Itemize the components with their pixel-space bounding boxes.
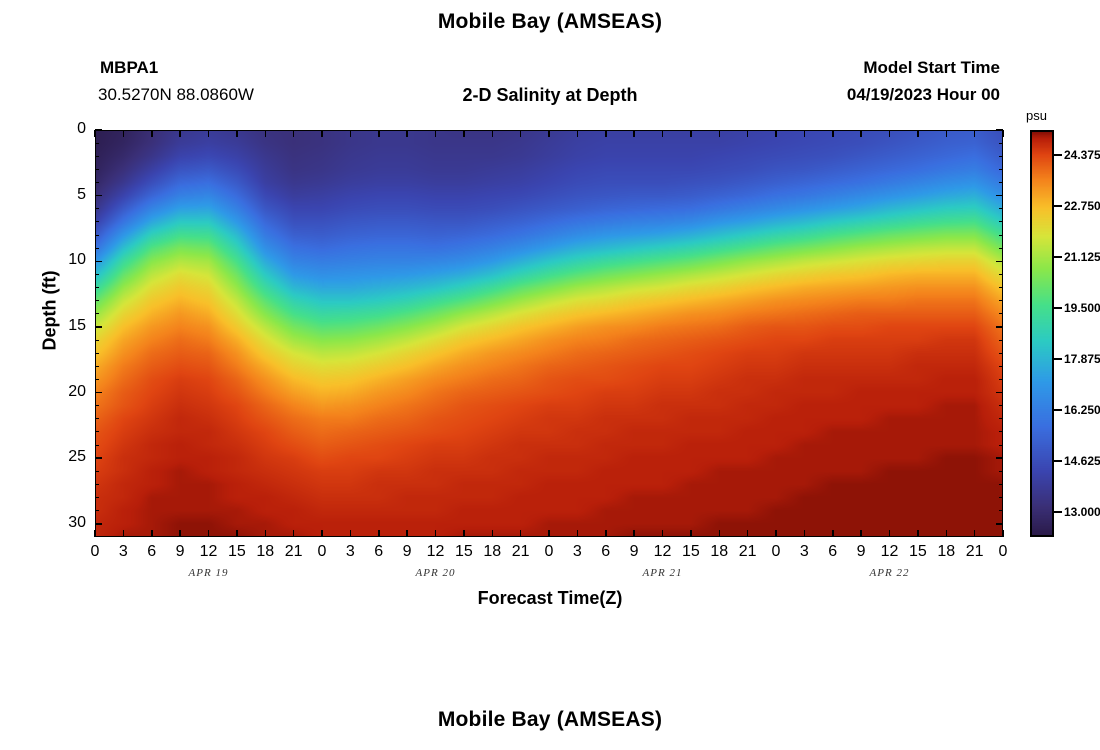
x-axis-tick-top xyxy=(917,130,919,137)
x-axis-tick-top xyxy=(747,130,749,137)
x-axis-tick-top xyxy=(804,130,806,137)
x-axis-tick xyxy=(747,530,749,537)
y-axis-minor-tick-right xyxy=(999,418,1003,419)
y-axis-tick-right xyxy=(996,195,1003,197)
x-axis-tick xyxy=(946,530,948,537)
x-axis-day-label: APR 19 xyxy=(164,567,254,579)
salinity-heatmap-canvas xyxy=(95,130,1003,537)
x-axis-tick-top xyxy=(974,130,976,137)
colorbar-canvas xyxy=(1030,130,1054,537)
colorbar-tick-label: 21.125 xyxy=(1064,250,1100,264)
colorbar-tick-label: 13.000 xyxy=(1064,505,1100,519)
x-axis-tick xyxy=(633,530,635,537)
x-axis-tick-top xyxy=(123,130,125,137)
y-axis-tick-right xyxy=(996,129,1003,131)
y-axis-minor-tick-right xyxy=(999,274,1003,275)
x-axis-tick xyxy=(662,530,664,537)
colorbar-tick xyxy=(1054,256,1062,258)
colorbar-tick xyxy=(1054,154,1062,156)
x-axis-tick-top xyxy=(94,130,96,137)
y-axis-tick xyxy=(95,392,102,394)
x-axis-day-label: APR 21 xyxy=(618,567,708,579)
y-axis-tick-label: 5 xyxy=(46,186,86,204)
y-axis-minor-tick xyxy=(95,471,99,472)
colorbar-tick-label: 24.375 xyxy=(1064,148,1100,162)
y-axis-minor-tick-right xyxy=(999,182,1003,183)
colorbar-tick-label: 14.625 xyxy=(1064,454,1100,468)
page-title-top: Mobile Bay (AMSEAS) xyxy=(0,10,1100,34)
y-axis-minor-tick xyxy=(95,340,99,341)
x-axis-tick xyxy=(435,530,437,537)
x-axis-tick-top xyxy=(775,130,777,137)
y-axis-minor-tick xyxy=(95,248,99,249)
heatmap-plot-area xyxy=(95,130,1003,537)
x-axis-tick xyxy=(208,530,210,537)
x-axis-tick xyxy=(775,530,777,537)
x-axis-tick xyxy=(605,530,607,537)
y-axis-minor-tick xyxy=(95,353,99,354)
y-axis-minor-tick xyxy=(95,431,99,432)
colorbar-tick-label: 17.875 xyxy=(1064,352,1100,366)
colorbar-tick xyxy=(1054,358,1062,360)
y-axis-minor-tick xyxy=(95,300,99,301)
y-axis-minor-tick-right xyxy=(999,497,1003,498)
y-axis-title: Depth (ft) xyxy=(40,251,61,371)
x-axis-tick-top xyxy=(236,130,238,137)
page-title-bottom: Mobile Bay (AMSEAS) xyxy=(0,708,1100,732)
y-axis-minor-tick-right xyxy=(999,445,1003,446)
x-axis-tick-top xyxy=(946,130,948,137)
x-axis-tick-top xyxy=(265,130,267,137)
y-axis-minor-tick xyxy=(95,366,99,367)
y-axis-tick-right xyxy=(996,261,1003,263)
y-axis-minor-tick xyxy=(95,143,99,144)
x-axis-tick-top xyxy=(520,130,522,137)
y-axis-tick-right xyxy=(996,523,1003,525)
x-axis-tick-top xyxy=(690,130,692,137)
x-axis-tick xyxy=(974,530,976,537)
y-axis-minor-tick xyxy=(95,208,99,209)
y-axis-tick-label: 30 xyxy=(46,514,86,532)
x-axis-tick-top xyxy=(832,130,834,137)
y-axis-minor-tick xyxy=(95,221,99,222)
x-axis-tick xyxy=(94,530,96,537)
y-axis-minor-tick-right xyxy=(999,366,1003,367)
x-axis-tick-top xyxy=(321,130,323,137)
x-axis-tick-top xyxy=(719,130,721,137)
y-axis-tick xyxy=(95,261,102,263)
y-axis-minor-tick-right xyxy=(999,431,1003,432)
y-axis-tick xyxy=(95,129,102,131)
y-axis-minor-tick xyxy=(95,313,99,314)
y-axis-minor-tick-right xyxy=(999,510,1003,511)
x-axis-tick-top xyxy=(605,130,607,137)
x-axis-tick-top xyxy=(548,130,550,137)
colorbar-tick xyxy=(1054,205,1062,207)
x-axis-tick-top xyxy=(179,130,181,137)
x-axis-tick xyxy=(293,530,295,537)
model-start-time-label: Model Start Time xyxy=(700,58,1000,78)
y-axis-minor-tick xyxy=(95,497,99,498)
x-axis-title: Forecast Time(Z) xyxy=(0,588,1100,609)
x-axis-tick xyxy=(492,530,494,537)
x-axis-tick xyxy=(889,530,891,537)
y-axis-minor-tick-right xyxy=(999,248,1003,249)
y-axis-minor-tick-right xyxy=(999,340,1003,341)
y-axis-minor-tick xyxy=(95,235,99,236)
x-axis-tick-top xyxy=(435,130,437,137)
y-axis-minor-tick-right xyxy=(999,235,1003,236)
colorbar-unit-label: psu xyxy=(1026,108,1047,123)
x-axis-tick xyxy=(350,530,352,537)
colorbar xyxy=(1030,130,1054,537)
x-axis-tick xyxy=(265,530,267,537)
x-axis-tick xyxy=(860,530,862,537)
x-axis-tick xyxy=(917,530,919,537)
x-axis-tick xyxy=(321,530,323,537)
y-axis-minor-tick-right xyxy=(999,405,1003,406)
y-axis-minor-tick xyxy=(95,379,99,380)
x-axis-tick xyxy=(719,530,721,537)
x-axis-tick-top xyxy=(889,130,891,137)
x-axis-tick-top xyxy=(151,130,153,137)
y-axis-minor-tick xyxy=(95,418,99,419)
y-axis-minor-tick-right xyxy=(999,143,1003,144)
y-axis-tick-right xyxy=(996,326,1003,328)
y-axis-minor-tick-right xyxy=(999,208,1003,209)
x-axis-tick xyxy=(406,530,408,537)
x-axis-tick xyxy=(151,530,153,537)
colorbar-tick-label: 19.500 xyxy=(1064,301,1100,315)
colorbar-tick xyxy=(1054,460,1062,462)
x-axis-tick xyxy=(804,530,806,537)
x-axis-tick-top xyxy=(577,130,579,137)
x-axis-tick xyxy=(548,530,550,537)
colorbar-tick-label: 22.750 xyxy=(1064,199,1100,213)
y-axis-minor-tick xyxy=(95,169,99,170)
y-axis-tick-label: 20 xyxy=(46,383,86,401)
x-axis-tick-top xyxy=(378,130,380,137)
x-axis-tick-top xyxy=(1002,130,1004,137)
y-axis-minor-tick-right xyxy=(999,484,1003,485)
y-axis-minor-tick xyxy=(95,510,99,511)
y-axis-tick-label: 0 xyxy=(46,120,86,138)
y-axis-minor-tick-right xyxy=(999,169,1003,170)
y-axis-minor-tick-right xyxy=(999,287,1003,288)
colorbar-tick xyxy=(1054,307,1062,309)
x-axis-tick-top xyxy=(662,130,664,137)
x-axis-tick-top xyxy=(406,130,408,137)
colorbar-tick xyxy=(1054,409,1062,411)
y-axis-minor-tick xyxy=(95,182,99,183)
x-axis-tick-top xyxy=(293,130,295,137)
x-axis-tick xyxy=(179,530,181,537)
x-axis-day-label: APR 22 xyxy=(845,567,935,579)
x-axis-tick xyxy=(378,530,380,537)
y-axis-minor-tick-right xyxy=(999,313,1003,314)
colorbar-tick-label: 16.250 xyxy=(1064,403,1100,417)
y-axis-minor-tick xyxy=(95,445,99,446)
y-axis-minor-tick-right xyxy=(999,353,1003,354)
y-axis-minor-tick-right xyxy=(999,379,1003,380)
y-axis-minor-tick-right xyxy=(999,471,1003,472)
y-axis-tick xyxy=(95,195,102,197)
y-axis-tick xyxy=(95,457,102,459)
x-axis-tick xyxy=(236,530,238,537)
x-axis-tick-top xyxy=(463,130,465,137)
y-axis-minor-tick-right xyxy=(999,300,1003,301)
y-axis-minor-tick xyxy=(95,156,99,157)
y-axis-tick xyxy=(95,326,102,328)
x-axis-tick xyxy=(1002,530,1004,537)
x-axis-tick xyxy=(520,530,522,537)
y-axis-minor-tick-right xyxy=(999,156,1003,157)
x-axis-tick-top xyxy=(208,130,210,137)
y-axis-minor-tick-right xyxy=(999,221,1003,222)
x-axis-tick-label: 0 xyxy=(983,543,1023,561)
y-axis-minor-tick xyxy=(95,405,99,406)
x-axis-tick xyxy=(577,530,579,537)
x-axis-tick-top xyxy=(633,130,635,137)
x-axis-tick xyxy=(832,530,834,537)
y-axis-tick xyxy=(95,523,102,525)
x-axis-tick xyxy=(463,530,465,537)
x-axis-tick xyxy=(690,530,692,537)
x-axis-day-label: APR 20 xyxy=(391,567,481,579)
x-axis-tick-top xyxy=(492,130,494,137)
x-axis-tick xyxy=(123,530,125,537)
y-axis-tick-label: 25 xyxy=(46,448,86,466)
station-id: MBPA1 xyxy=(100,58,158,78)
y-axis-minor-tick xyxy=(95,287,99,288)
y-axis-tick-right xyxy=(996,457,1003,459)
y-axis-minor-tick xyxy=(95,484,99,485)
x-axis-tick-top xyxy=(350,130,352,137)
colorbar-tick xyxy=(1054,511,1062,513)
y-axis-minor-tick xyxy=(95,274,99,275)
y-axis-tick-right xyxy=(996,392,1003,394)
model-start-time-value: 04/19/2023 Hour 00 xyxy=(700,85,1000,105)
x-axis-tick-top xyxy=(860,130,862,137)
